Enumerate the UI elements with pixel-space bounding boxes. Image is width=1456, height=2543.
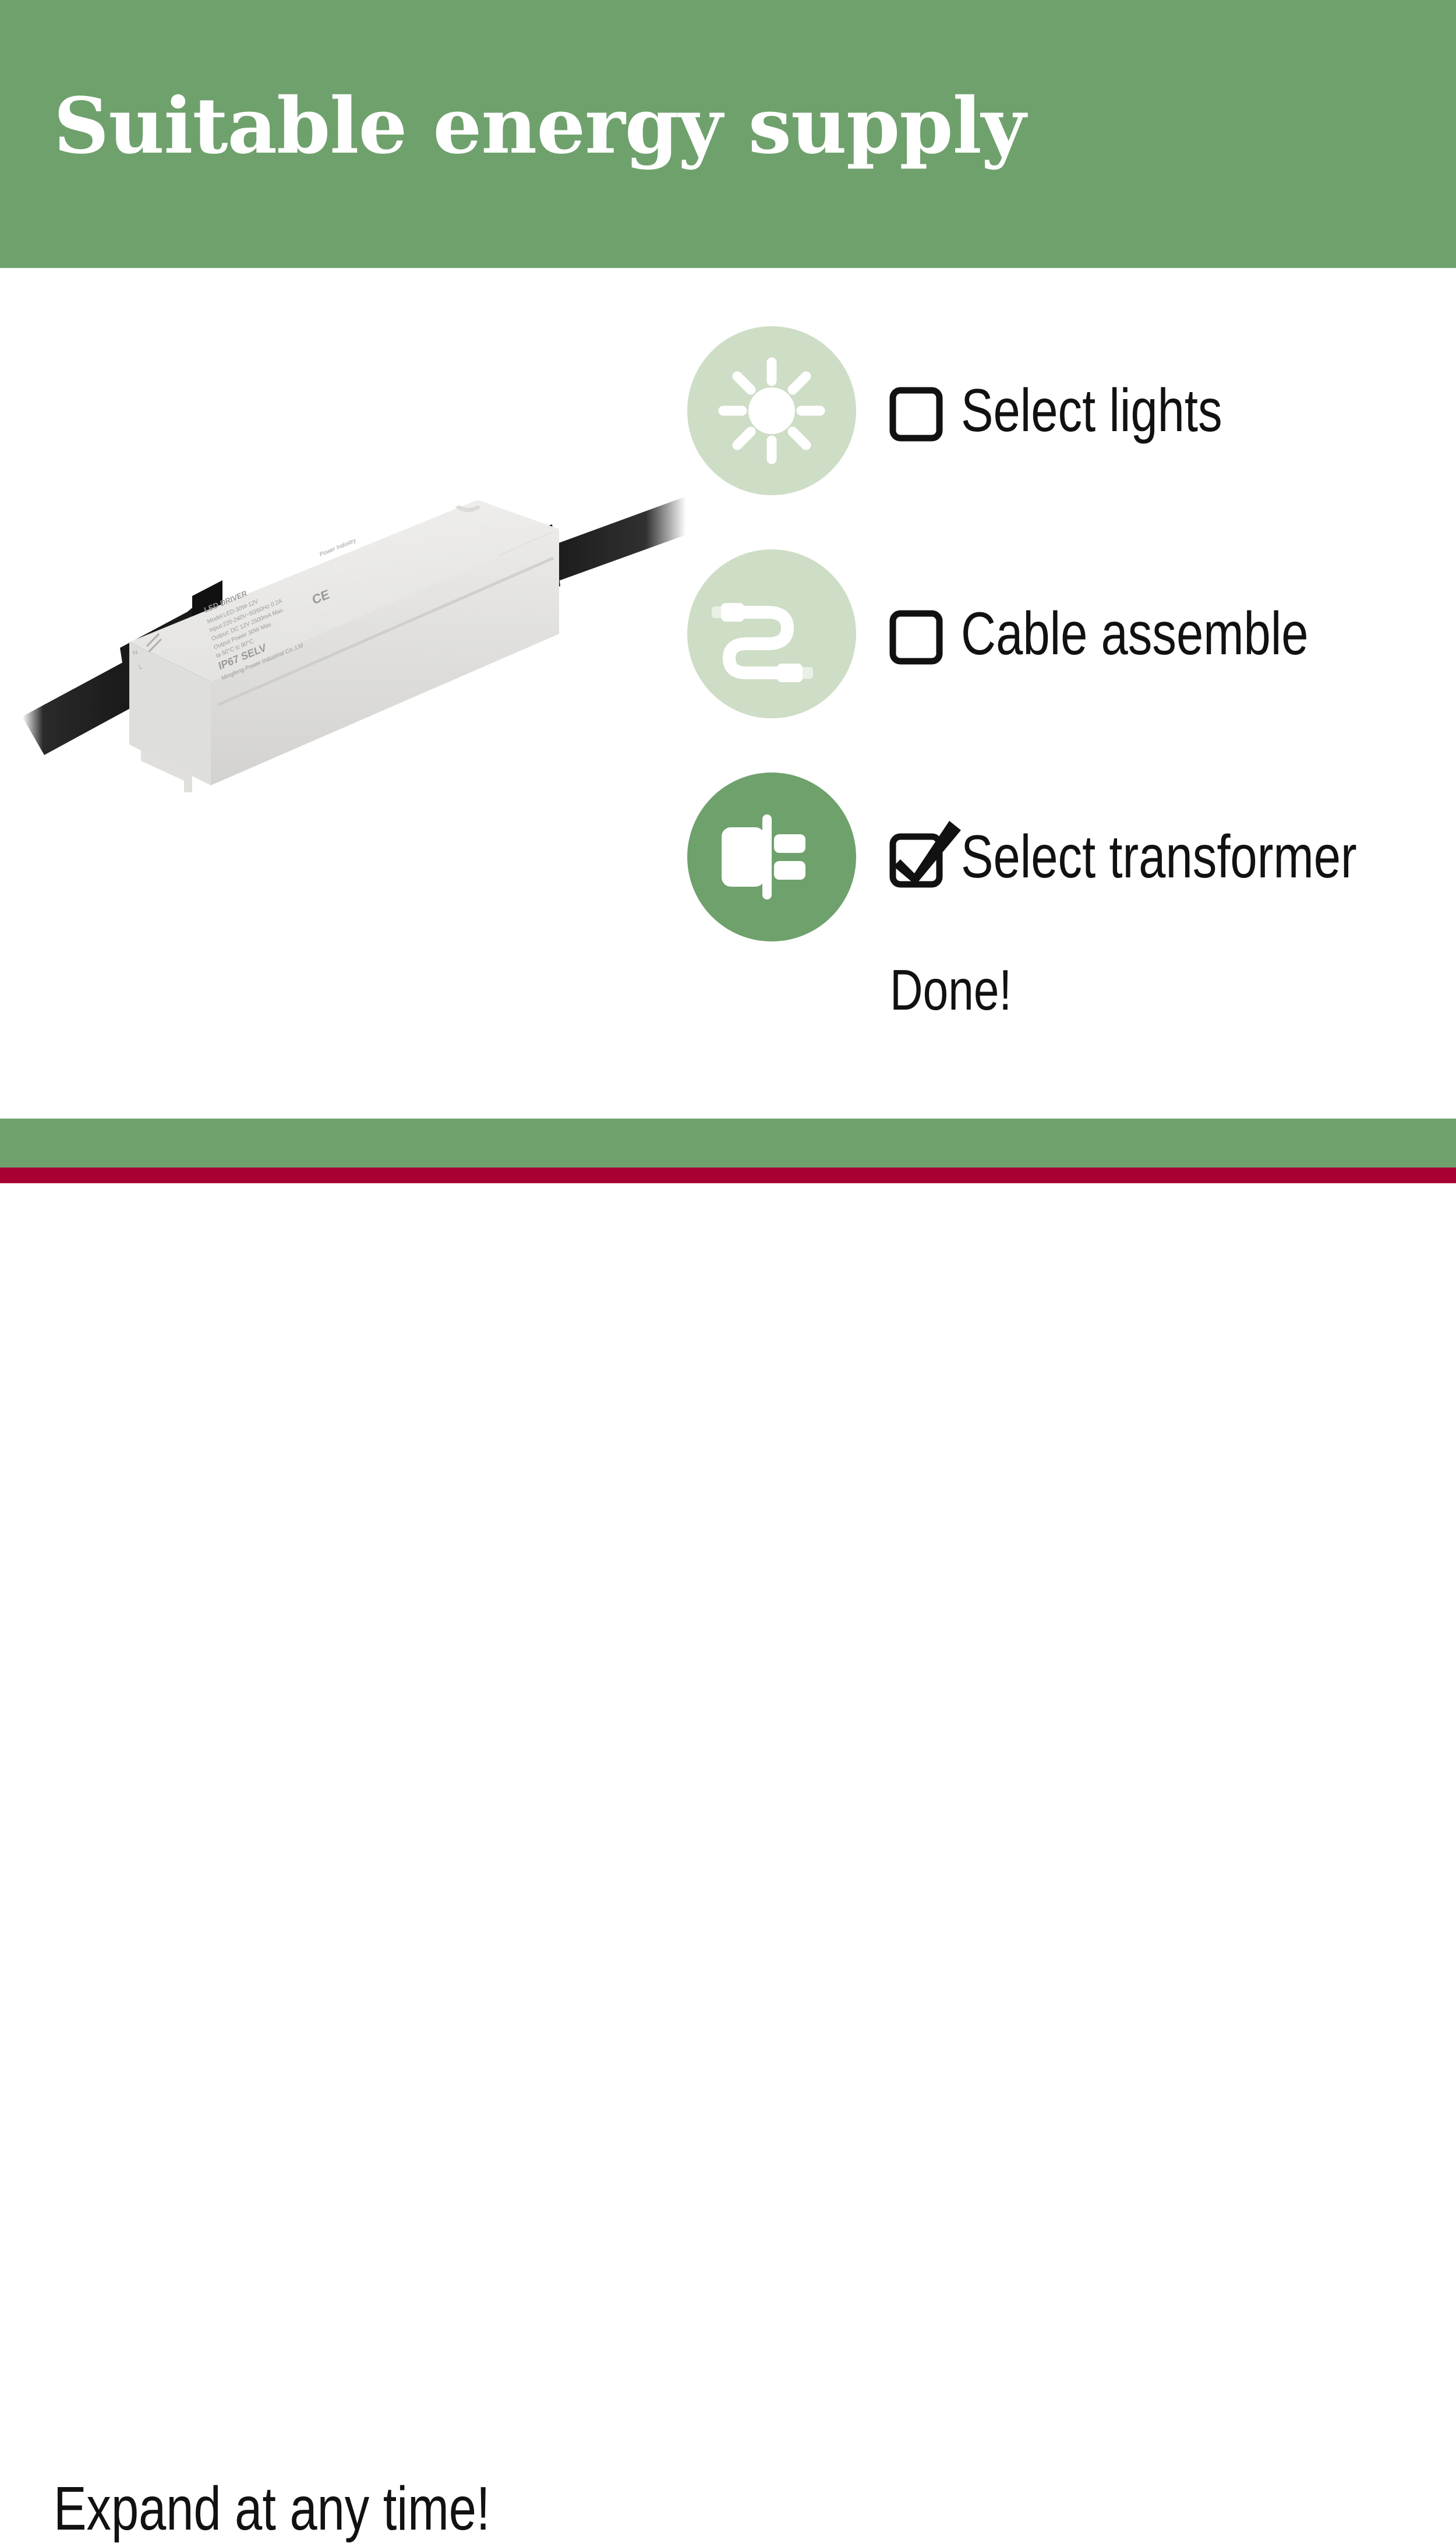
checkbox-select-transformer[interactable] <box>890 834 936 880</box>
page-title: Suitable energy supply <box>54 87 1025 166</box>
checklist-label: Select lights <box>961 380 1222 441</box>
red-divider-stripe <box>0 1168 1456 1183</box>
plug-icon-badge <box>687 773 856 941</box>
checklist-row-cable-assemble[interactable]: Cable assemble <box>687 549 1444 718</box>
checkbox-select-lights[interactable] <box>890 387 936 434</box>
checklist-row-select-transformer[interactable]: Select transformer <box>687 773 1444 941</box>
sun-icon-badge <box>687 326 856 495</box>
checkbox-cable-assemble[interactable] <box>890 611 936 657</box>
done-text: Done! <box>890 961 1012 1018</box>
product-photo-led-driver: LED DRIVER Model:LED-30W-12V Input:220-2… <box>17 431 687 792</box>
footer-text: Expand at any time! <box>54 2478 490 2540</box>
cable-icon-badge <box>687 549 856 718</box>
checklist-row-select-lights[interactable]: Select lights <box>687 326 1444 495</box>
green-divider-stripe <box>0 1119 1456 1168</box>
header-banner: Suitable energy supply <box>0 0 1456 268</box>
checklist: Select lights <box>687 326 1444 996</box>
footer-area: Expand at any time! <box>0 1183 1456 1456</box>
checklist-label: Select transformer <box>961 827 1357 887</box>
checklist-label: Cable assemble <box>961 604 1309 664</box>
